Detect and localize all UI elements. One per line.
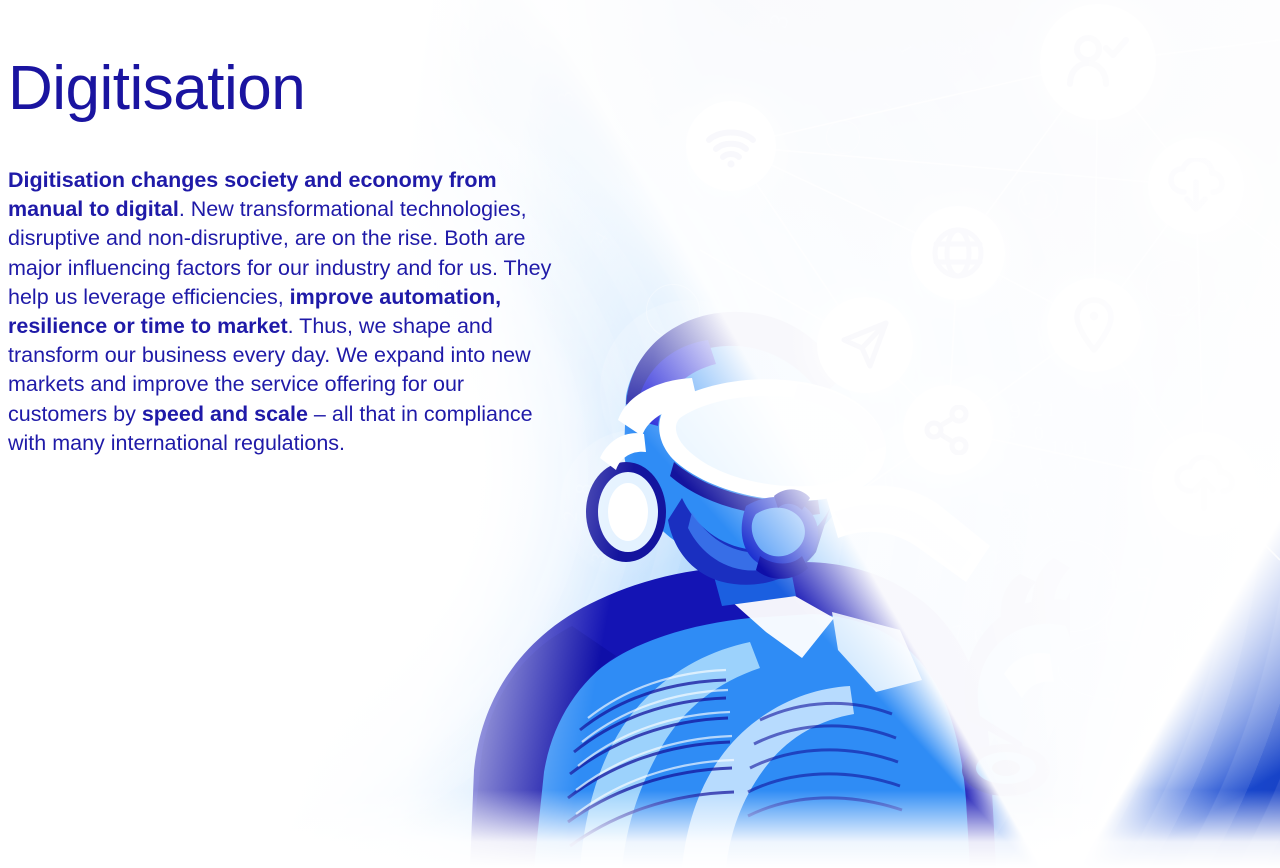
- body-paragraph: Digitisation changes society and economy…: [8, 166, 553, 458]
- background-digit: 8: [617, 20, 637, 38]
- wifi-icon[interactable]: [686, 101, 776, 191]
- background-digit: 5: [1252, 420, 1264, 444]
- network-link: [731, 146, 1196, 186]
- background-digit: 4: [590, 228, 612, 247]
- background-digit: 1: [755, 44, 775, 59]
- background-digit: 1: [1080, 438, 1091, 458]
- background-digit: 3: [765, 11, 794, 31]
- bokeh-circle: [1018, 180, 1058, 220]
- background-digit: 3: [1216, 288, 1231, 318]
- background-digit: 2: [639, 65, 657, 85]
- background-digit: 7: [1196, 624, 1211, 654]
- send-icon[interactable]: [817, 297, 913, 393]
- location-pin-icon[interactable]: [1047, 278, 1141, 372]
- cloud-upload-icon[interactable]: [1152, 432, 1256, 536]
- body-emphasis: speed and scale: [142, 402, 308, 426]
- slide-canvas: 3233817134213792160101139584123500025337…: [0, 0, 1280, 868]
- bokeh-ellipse: [1058, 640, 1178, 700]
- background-digit: 3: [954, 43, 976, 57]
- text-panel: Digitisation Digitisation changes societ…: [8, 58, 568, 458]
- background-digit: 5: [1192, 600, 1201, 618]
- user-check-icon[interactable]: [1040, 4, 1156, 120]
- share-icon[interactable]: [903, 385, 993, 475]
- page-title: Digitisation: [8, 58, 568, 120]
- bokeh-circle: [1146, 260, 1202, 316]
- bokeh-circle: [826, 120, 860, 154]
- background-digit: 7: [1156, 422, 1168, 446]
- background-digit: 1: [896, 41, 916, 57]
- globe-icon[interactable]: [911, 206, 1005, 300]
- background-digit: 7: [876, 99, 894, 119]
- cloud-download-icon[interactable]: [1148, 138, 1244, 234]
